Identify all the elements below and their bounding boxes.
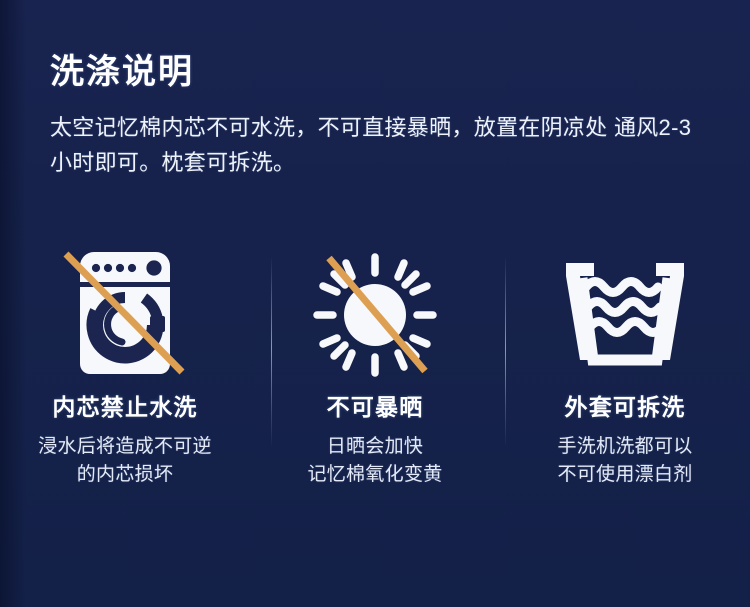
care-column-title: 不可暴晒 [327,394,424,422]
care-column-description-line-2: 的内芯损坏 [38,461,212,490]
care-column-description-line-2: 记忆棉氧化变黄 [307,461,442,490]
washing-instructions-panel: 洗涤说明 太空记忆棉内芯不可水洗，不可直接暴晒，放置在阴凉处 通风2-3小时即可… [0,0,750,607]
page-description-line-1: 太空记忆棉内芯不可水洗，不可直接暴晒，放置在阴凉处 [50,115,608,140]
care-instruction-columns: 内芯禁止水洗 浸水后将造成不可逆 的内芯损坏 [0,250,750,530]
care-column-description-line-1: 日晒会加快 [307,433,442,462]
care-column-description: 浸水后将造成不可逆 的内芯损坏 [38,433,212,490]
page-title: 洗涤说明 [50,52,710,93]
care-column-no-machine-wash: 内芯禁止水洗 浸水后将造成不可逆 的内芯损坏 [0,250,250,490]
care-column-title: 内芯禁止水洗 [52,394,197,422]
care-column-description-line-1: 浸水后将造成不可逆 [38,433,212,462]
hand-wash-basin-icon [557,250,693,380]
no-sun-exposure-icon [307,250,443,380]
no-machine-wash-icon [57,250,193,380]
page-description: 太空记忆棉内芯不可水洗，不可直接暴晒，放置在阴凉处 通风2-3小时即可。枕套可拆… [50,110,710,181]
care-column-description-line-2: 不可使用漂白剂 [557,461,692,490]
care-column-description-line-1: 手洗机洗都可以 [557,433,692,462]
care-column-no-sun-exposure: 不可暴晒 日晒会加快 记忆棉氧化变黄 [250,250,500,490]
care-column-description: 日晒会加快 记忆棉氧化变黄 [307,433,442,490]
header: 洗涤说明 太空记忆棉内芯不可水洗，不可直接暴晒，放置在阴凉处 通风2-3小时即可… [50,52,710,181]
care-column-washable-cover: 外套可拆洗 手洗机洗都可以 不可使用漂白剂 [500,250,750,490]
care-column-description: 手洗机洗都可以 不可使用漂白剂 [557,433,692,490]
care-column-title: 外套可拆洗 [565,394,686,422]
